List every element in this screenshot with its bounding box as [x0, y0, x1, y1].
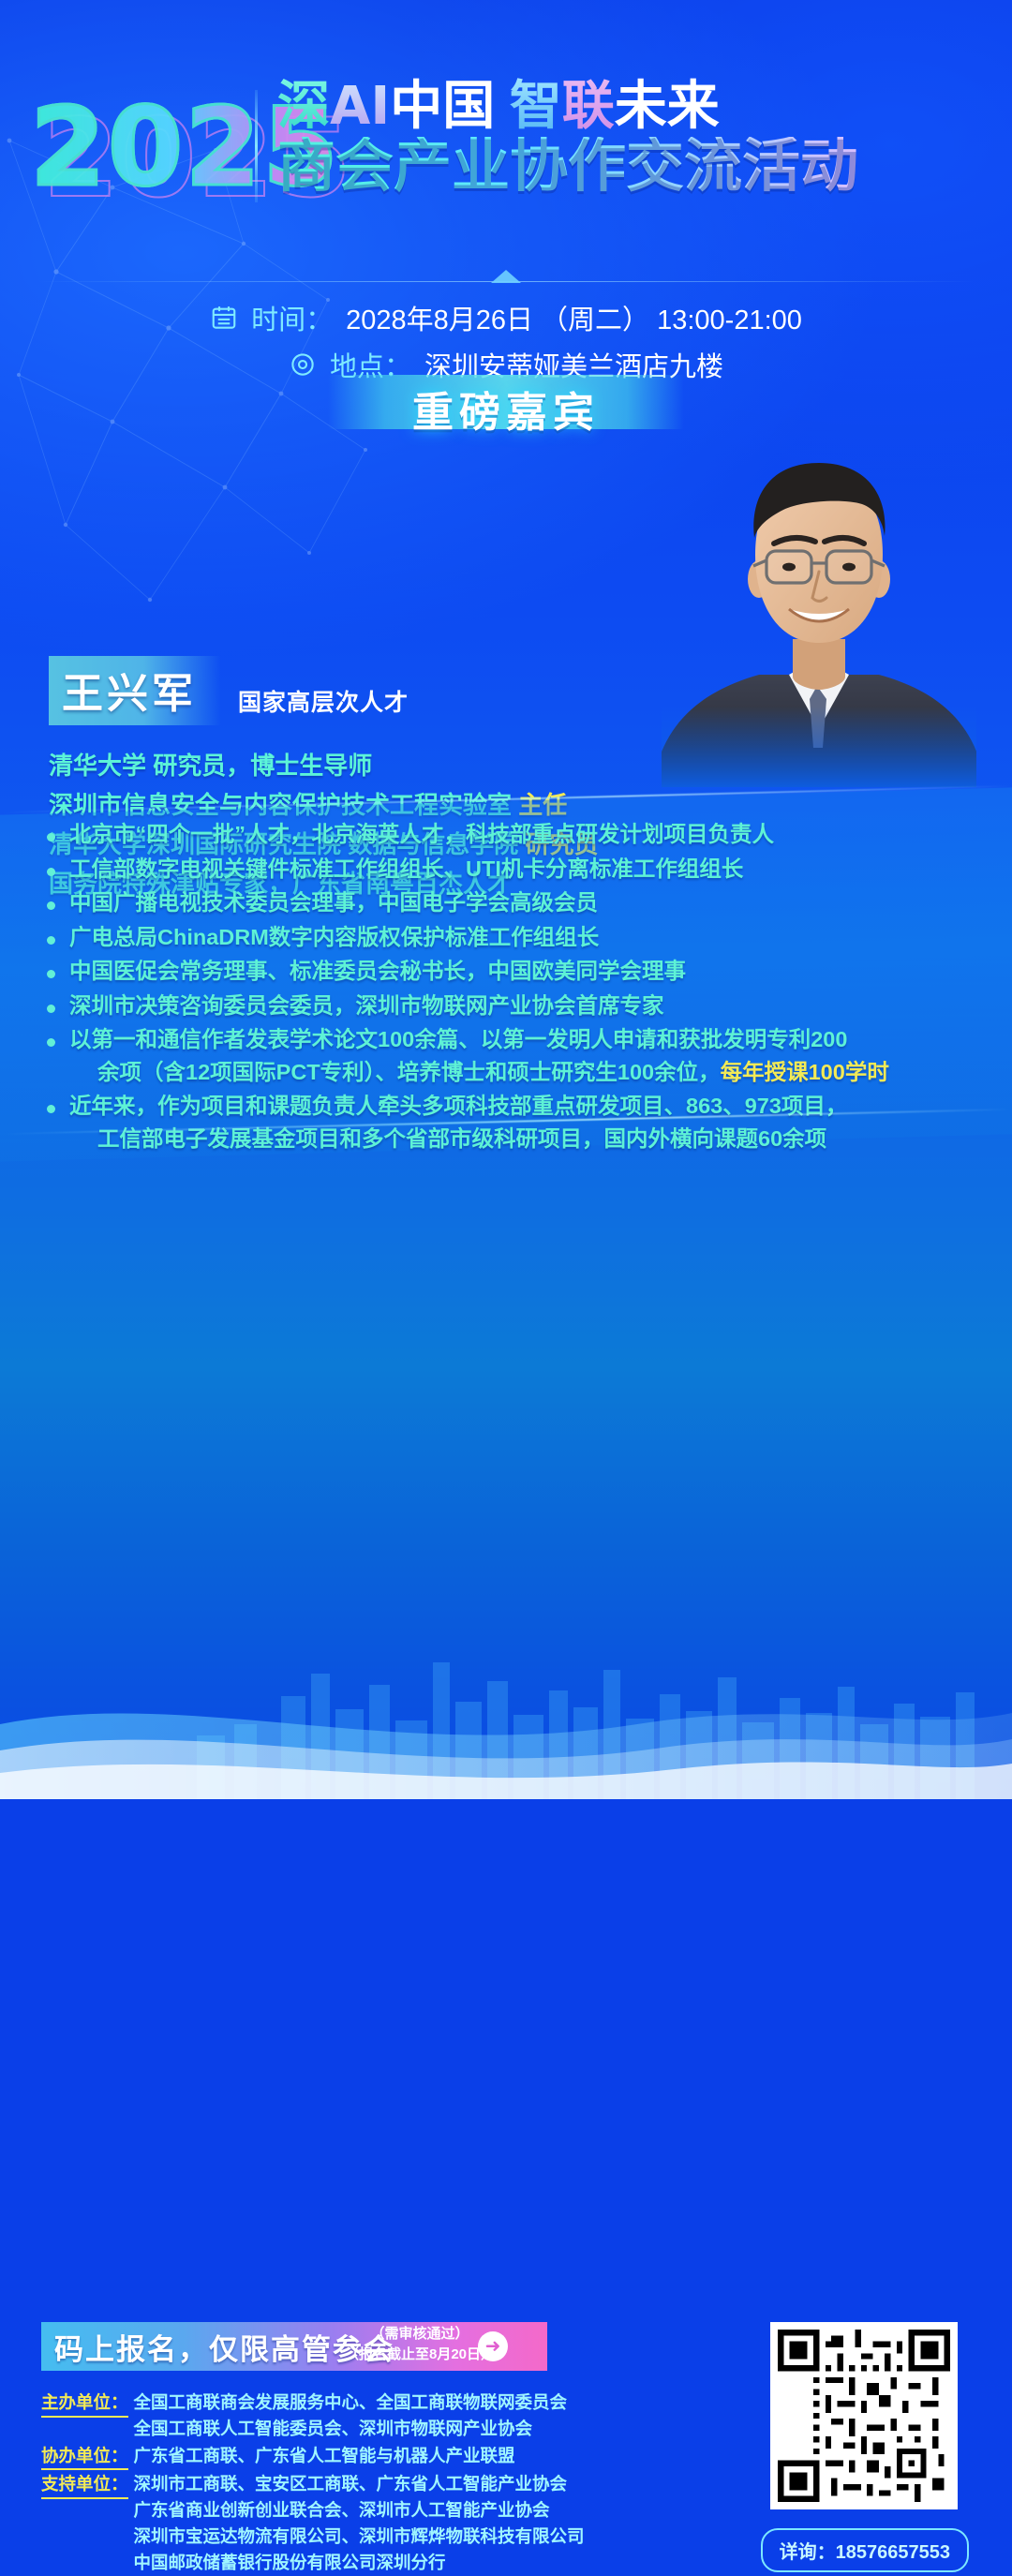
- meta-time-value: 2028年8月26日 （周二） 13:00-21:00: [346, 298, 802, 337]
- title-block: 深AI中国 智联未来 商会产业协作交流活动: [277, 79, 993, 196]
- meta-row-time: 时间： 2028年8月26日 （周二） 13:00-21:00: [0, 298, 1012, 337]
- meta-time-label: 时间：: [251, 298, 333, 337]
- organizer-key: 协办单位：: [41, 2443, 128, 2471]
- organizer-value: 深圳市工商联、宝安区工商联、广东省人工智能产业协会: [134, 2471, 585, 2497]
- credential-item: 中国医促会常务理事、标准委员会秘书长，中国欧美同学会理事: [41, 955, 978, 988]
- arrow-right-icon[interactable]: ➜: [478, 2331, 508, 2361]
- registration-note-line1: （需审核通过）: [345, 2324, 495, 2345]
- credential-text: 北京市“四个一批”人才，北京海英人才，科技部重点研发计划项目负责人: [69, 818, 978, 851]
- registration-headline: 码上报名，仅限高管参会: [54, 2326, 394, 2368]
- arrow-glyph: ➜: [485, 2337, 501, 2356]
- credential-text-main: 北京市“四个一批”人才，北京海英人才，科技部重点研发计划项目负责人: [69, 822, 774, 846]
- organizer-value: 全国工商联商会发展服务中心、全国工商联物联网委员会: [134, 2390, 568, 2416]
- credential-text-main: 余项（含12项国际PCT专利）、培养博士和硕士研究生100余位，: [97, 1060, 721, 1084]
- speaker-title-text: 清华大学 研究员，博士生导师: [49, 752, 372, 780]
- credential-text: 深圳市决策咨询委员会委员，深圳市物联网产业协会首席专家: [69, 990, 978, 1022]
- organizers-list: 主办单位：全国工商联商会发展服务中心、全国工商联物联网委员会全国工商联人工智能委…: [41, 2390, 622, 2576]
- qr-code-image: [778, 2330, 950, 2502]
- organizer-values: 全国工商联商会发展服务中心、全国工商联物联网委员会全国工商联人工智能委员会、深圳…: [134, 2390, 568, 2442]
- credential-text-main: 广电总局ChinaDRM数字内容版权保护标准工作组组长: [69, 925, 599, 949]
- organizer-value: 深圳市宝运达物流有限公司、深圳市辉烨物联科技有限公司: [134, 2524, 585, 2550]
- credential-item: 工信部数字电视关键件标准工作组组长、UTI机卡分离标准工作组组长: [41, 853, 978, 886]
- title-part-space: [495, 76, 510, 135]
- title-line-2: 商会产业协作交流活动: [277, 137, 993, 196]
- guest-banner-label: 重磅嘉宾: [0, 379, 1012, 439]
- credential-text: 广电总局ChinaDRM数字内容版权保护标准工作组组长: [69, 921, 978, 954]
- poster-footer: 码上报名，仅限高管参会 （需审核通过） （报名截止至8月20日） ➜ 主办单位：…: [0, 1153, 1012, 1799]
- speaker-tag: 国家高层次人才: [238, 684, 409, 725]
- speaker-portrait: [662, 439, 976, 787]
- credential-text: 工信部数字电视关键件标准工作组组长、UTI机卡分离标准工作组组长: [69, 853, 978, 886]
- organizer-key: 主办单位：: [41, 2390, 128, 2418]
- credential-text-highlight: 每年授课100学时: [721, 1060, 889, 1084]
- contact-phone: 详询：18576657553: [761, 2528, 969, 2572]
- title-line-1: 深AI中国 智联未来: [277, 79, 993, 133]
- organizer-value: 广东省商业创新创业联合会、深圳市人工智能产业协会: [134, 2497, 585, 2524]
- credential-text: 以第一和通信作者发表学术论文100余篇、以第一发明人申请和获批发明专利200: [69, 1023, 978, 1056]
- organizer-value: 广东省工商联、广东省人工智能与机器人产业联盟: [134, 2443, 515, 2469]
- poster-header: 2025 2025 深AI中国 智联未来 商会产业协作交流活动: [0, 56, 1012, 216]
- qr-code[interactable]: [770, 2322, 958, 2509]
- credential-text-main: 以第一和通信作者发表学术论文100余篇、以第一发明人申请和获批发明专利200: [69, 1027, 847, 1051]
- organizer-value: 全国工商联人工智能委员会、深圳市物联网产业协会: [134, 2416, 568, 2442]
- header-divider: [255, 90, 258, 202]
- meta-divider-arrow: [491, 270, 521, 283]
- contact-number: 18576657553: [836, 2542, 950, 2563]
- organizer-row: 主办单位：全国工商联商会发展服务中心、全国工商联物联网委员会全国工商联人工智能委…: [41, 2390, 622, 2442]
- registration-note-line2: （报名截止至8月20日）: [345, 2345, 495, 2365]
- title-part-weilai: 未来: [615, 76, 720, 135]
- skyline-decoration: [0, 1584, 1012, 1799]
- poster-root: 2025 2025 深AI中国 智联未来 商会产业协作交流活动 时间： 2028…: [0, 0, 1012, 1799]
- calendar-icon: [210, 304, 238, 332]
- credential-item: 深圳市决策咨询委员会委员，深圳市物联网产业协会首席专家: [41, 990, 978, 1022]
- credential-item: 以第一和通信作者发表学术论文100余篇、以第一发明人申请和获批发明专利200余项…: [41, 1023, 978, 1088]
- location-pin-icon: [289, 350, 317, 379]
- title-part-lian: 联: [562, 76, 615, 135]
- credential-item: 广电总局ChinaDRM数字内容版权保护标准工作组组长: [41, 921, 978, 954]
- credential-text: 中国医促会常务理事、标准委员会秘书长，中国欧美同学会理事: [69, 955, 978, 988]
- organizer-key: 支持单位：: [41, 2471, 128, 2499]
- registration-note: （需审核通过） （报名截止至8月20日）: [345, 2324, 495, 2365]
- credential-item: 中国广播电视技术委员会理事，中国电子学会高级会员: [41, 886, 978, 919]
- credential-text: 近年来，作为项目和课题负责人牵头多项科技部重点研发项目、863、973项目，: [69, 1090, 978, 1123]
- credential-text-main: 中国广播电视技术委员会理事，中国电子学会高级会员: [69, 890, 598, 915]
- title-part-shen: 深: [277, 76, 330, 135]
- credential-item: 北京市“四个一批”人才，北京海英人才，科技部重点研发计划项目负责人: [41, 818, 978, 851]
- credentials-panel: 北京市“四个一批”人才，北京海英人才，科技部重点研发计划项目负责人工信部数字电视…: [0, 787, 1012, 1161]
- speaker-title-line: 清华大学 研究员，博士生导师: [49, 746, 598, 785]
- organizer-value: 中国邮政储蓄银行股份有限公司深圳分行: [134, 2550, 585, 2576]
- contact-label: 详询：: [780, 2542, 836, 2563]
- title-part-zhi: 智: [510, 76, 562, 135]
- credential-text-main: 工信部数字电视关键件标准工作组组长、UTI机卡分离标准工作组组长: [69, 856, 743, 881]
- speaker-name: 王兴军: [49, 656, 221, 725]
- organizer-values: 深圳市工商联、宝安区工商联、广东省人工智能产业协会广东省商业创新创业联合会、深圳…: [134, 2471, 585, 2575]
- credential-text: 中国广播电视技术委员会理事，中国电子学会高级会员: [69, 886, 978, 919]
- title-part-ai: AI: [330, 76, 390, 137]
- organizer-row: 协办单位：广东省工商联、广东省人工智能与机器人产业联盟: [41, 2443, 622, 2471]
- title-part-zhongguo: 中国: [390, 76, 495, 135]
- organizer-row: 支持单位：深圳市工商联、宝安区工商联、广东省人工智能产业协会广东省商业创新创业联…: [41, 2471, 622, 2575]
- credentials-list: 北京市“四个一批”人才，北京海英人才，科技部重点研发计划项目负责人工信部数字电视…: [0, 801, 1012, 1154]
- organizer-values: 广东省工商联、广东省人工智能与机器人产业联盟: [134, 2443, 515, 2469]
- speaker-name-row: 王兴军 国家高层次人才: [49, 656, 598, 725]
- credential-text-main: 深圳市决策咨询委员会委员，深圳市物联网产业协会首席专家: [69, 993, 664, 1018]
- credential-text-main: 中国医促会常务理事、标准委员会秘书长，中国欧美同学会理事: [69, 959, 686, 983]
- credential-text: 余项（含12项国际PCT专利）、培养博士和硕士研究生100余位，每年授课100学…: [69, 1056, 978, 1089]
